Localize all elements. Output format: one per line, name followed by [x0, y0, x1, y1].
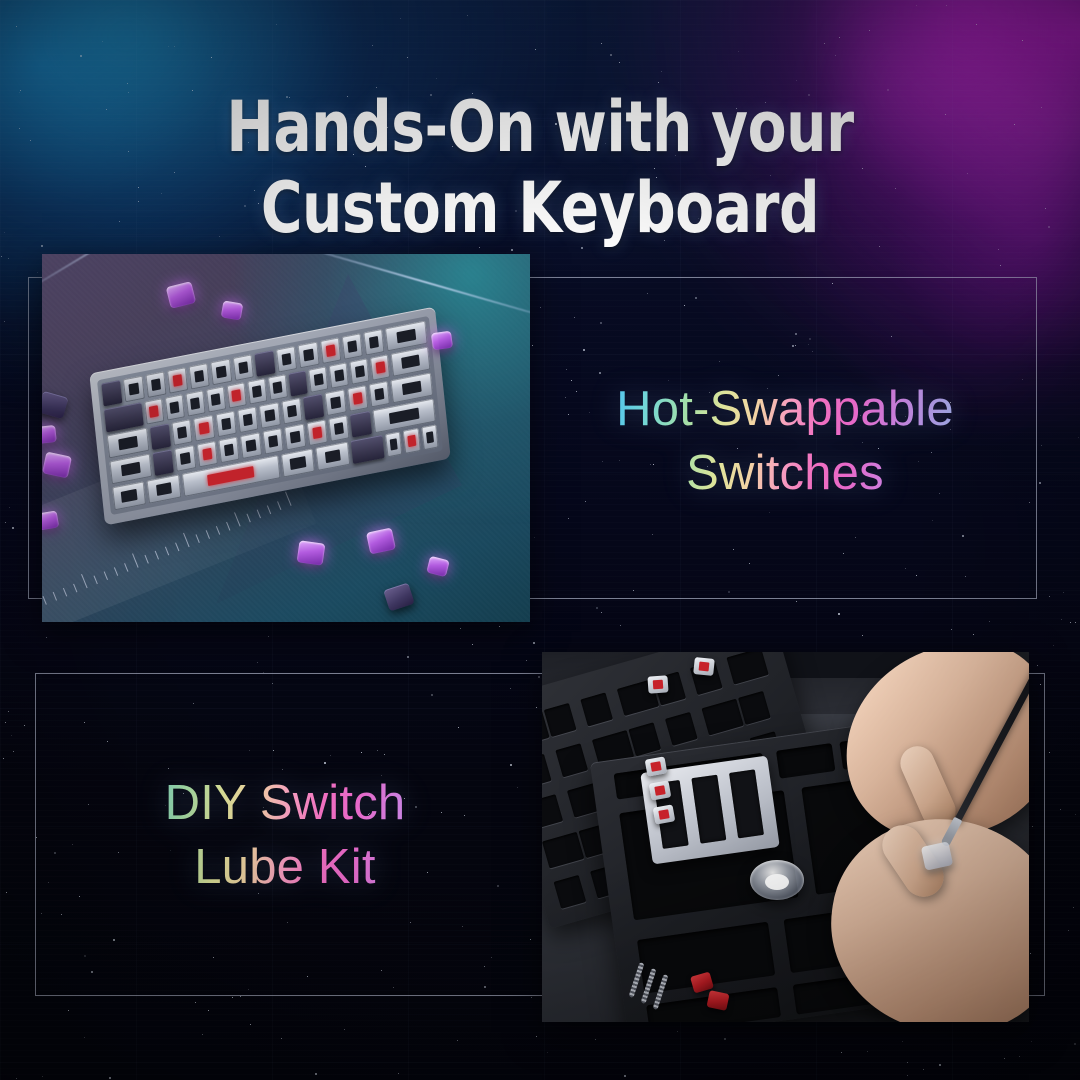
switch-lube-kit-photo: [542, 652, 1029, 1022]
loose-switch: [431, 331, 453, 351]
caption-diy-lube-kit-line-2: Lube Kit: [50, 836, 520, 900]
barebones-keyboard-photo: [42, 254, 530, 622]
clear-switch: [653, 804, 676, 824]
page-title: Hands-On with your Custom Keyboard: [54, 87, 1026, 249]
caption-diy-lube-kit-line-1: DIY Switch: [50, 772, 520, 836]
page-title-line-2: Custom Keyboard: [54, 168, 1026, 249]
loose-switch: [42, 425, 57, 444]
poster-canvas: Hands-On with your Custom Keyboard Hot-S…: [0, 0, 1080, 1080]
loose-switch: [297, 540, 326, 565]
loose-switch: [221, 300, 244, 320]
red-switch: [647, 675, 668, 693]
caption-diy-lube-kit: DIY Switch Lube Kit: [50, 772, 520, 899]
clear-switch: [649, 780, 672, 800]
clear-switch: [645, 756, 668, 776]
caption-hot-swappable: Hot-Swappable Switches: [560, 378, 1010, 505]
page-title-line-1: Hands-On with your: [226, 86, 853, 168]
caption-hot-swappable-line-2: Switches: [560, 442, 1010, 506]
lube-dish: [750, 860, 804, 900]
red-switch: [693, 657, 715, 676]
caption-hot-swappable-line-1: Hot-Swappable: [560, 378, 1010, 442]
